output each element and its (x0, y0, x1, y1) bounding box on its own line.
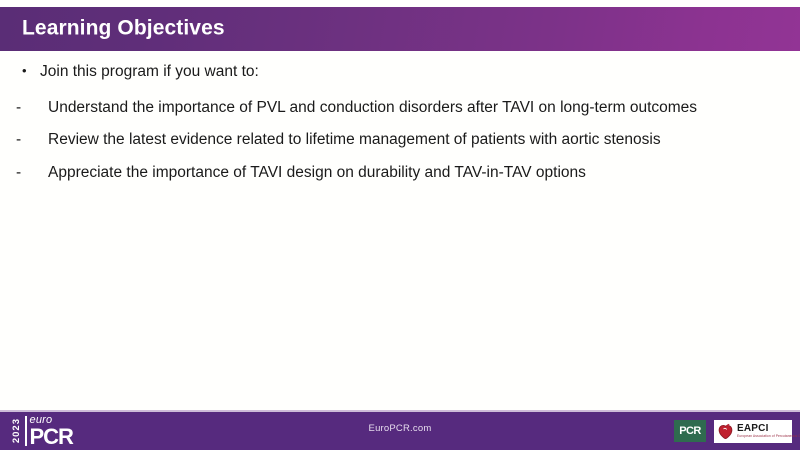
eapci-name-label: EAPCI (737, 424, 800, 434)
objective-item: - Understand the importance of PVL and c… (0, 97, 800, 119)
objective-text: Review the latest evidence related to li… (48, 131, 661, 148)
dash-marker-icon: - (16, 162, 21, 184)
dash-marker-icon: - (16, 129, 21, 151)
footer-logos: PCR EAPCI European Association of Percut… (674, 419, 792, 443)
objective-text: Appreciate the importance of TAVI design… (48, 164, 586, 181)
objective-text: Understand the importance of PVL and con… (48, 99, 697, 116)
eapci-text-block: EAPCI European Association of Percutaneo… (737, 424, 800, 439)
eapci-tagline-label: European Association of Percutaneous Car… (737, 435, 800, 438)
eapci-badge-logo: EAPCI European Association of Percutaneo… (714, 420, 792, 443)
objective-item: - Appreciate the importance of TAVI desi… (0, 162, 800, 184)
slide-header-band: Learning Objectives (0, 7, 800, 51)
intro-bullet: • Join this program if you want to: (0, 62, 800, 83)
bullet-dot-icon: • (22, 62, 27, 81)
slide: Learning Objectives • Join this program … (0, 0, 800, 450)
pcr-badge-label: PCR (679, 425, 700, 437)
objective-item: - Review the latest evidence related to … (0, 129, 800, 151)
slide-content: • Join this program if you want to: - Un… (0, 62, 800, 194)
intro-bullet-text: Join this program if you want to: (40, 63, 259, 80)
dash-marker-icon: - (16, 97, 21, 119)
page-title: Learning Objectives (22, 17, 225, 41)
heart-icon (717, 423, 734, 440)
pcr-badge-logo: PCR (674, 420, 706, 442)
